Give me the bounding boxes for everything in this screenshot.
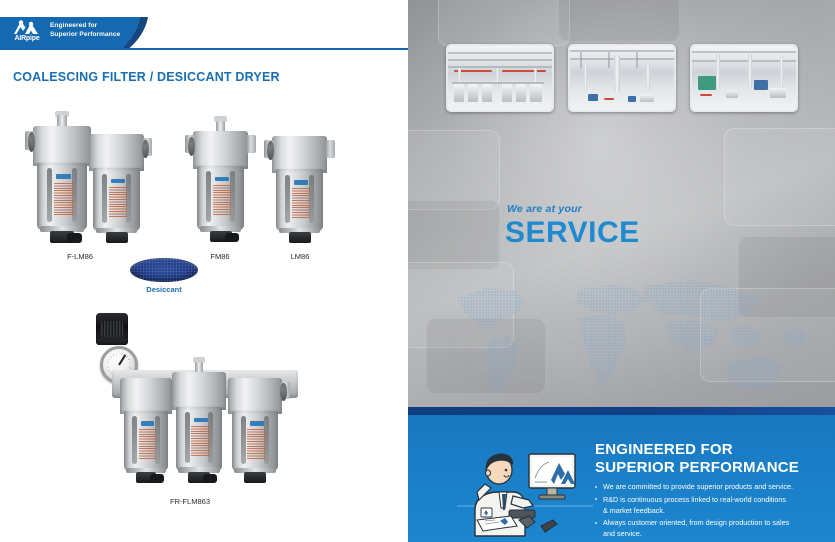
footer-title-line-2: SUPERIOR PERFORMANCE <box>595 459 799 477</box>
brand-logo: AIRpipe <box>6 20 48 46</box>
product-image-f-lm86-left <box>33 126 91 244</box>
product-label-1: FM86 <box>190 252 250 261</box>
assembly-unit-regulator <box>120 378 172 484</box>
mountain-logo-icon <box>12 20 42 35</box>
decor-rect-5 <box>724 128 835 226</box>
warehouse-interior-photo <box>568 44 676 112</box>
bullet-text: R&D is continuous process linked to real… <box>603 495 786 504</box>
product-image-lm86 <box>272 136 327 244</box>
assembly-label: FR-FLM863 <box>130 497 250 506</box>
header-rule <box>0 48 408 50</box>
desiccant-label: Desiccant <box>130 285 198 294</box>
list-item: R&D is continuous process linked to real… <box>594 494 832 516</box>
bullet-text: Always customer oriented, from design pr… <box>603 518 789 527</box>
desiccant-beads-image <box>130 258 198 282</box>
decor-rect-9 <box>558 0 680 42</box>
distribution-centre-photo <box>690 44 798 112</box>
decor-rect-8 <box>438 0 570 46</box>
assembly-unit-filter <box>172 372 226 484</box>
engineer-at-computer-illustration <box>455 432 595 540</box>
tagline-line-1: Engineered for <box>50 22 128 31</box>
assembly-unit-dryer <box>228 378 282 484</box>
footer-title: ENGINEERED FOR SUPERIOR PERFORMANCE <box>595 441 799 477</box>
product-image-f-lm86-right <box>89 134 144 244</box>
brand-tagline: Engineered for Superior Performance <box>50 22 128 39</box>
brand-wordmark: AIRpipe <box>6 35 48 43</box>
catalog-page: AIRpipe Engineered for Superior Performa… <box>0 0 835 542</box>
left-product-panel: AIRpipe Engineered for Superior Performa… <box>0 0 408 542</box>
product-label-0: F-LM86 <box>50 252 110 261</box>
service-card-subtitle: We are at your <box>507 203 582 215</box>
factory-assembly-line-photo <box>446 44 554 112</box>
bullet-text-cont: & market feedback. <box>603 505 832 516</box>
world-map-dotted-graphic <box>428 270 828 410</box>
regulator-knob-graphic <box>96 313 128 345</box>
page-title: COALESCING FILTER / DESICCANT DRYER <box>13 70 280 84</box>
bullet-text-cont: and service. <box>603 528 832 539</box>
bullet-text: We are committed to provide superior pro… <box>603 482 793 491</box>
footer-band-top-stripe <box>408 407 835 415</box>
footer-title-line-1: ENGINEERED FOR <box>595 441 799 459</box>
service-card-text: We are at your SERVICE <box>487 155 681 282</box>
tagline-line-2: Superior Performance <box>50 31 128 40</box>
list-item: Always customer oriented, from design pr… <box>594 517 832 539</box>
factory-photo-strip <box>446 44 816 128</box>
list-item: We are committed to provide superior pro… <box>594 481 832 492</box>
service-card-title: SERVICE <box>505 217 640 249</box>
footer-bullet-list: We are committed to provide superior pro… <box>594 481 832 541</box>
product-image-fm86 <box>193 131 248 243</box>
product-label-2: LM86 <box>270 252 330 261</box>
